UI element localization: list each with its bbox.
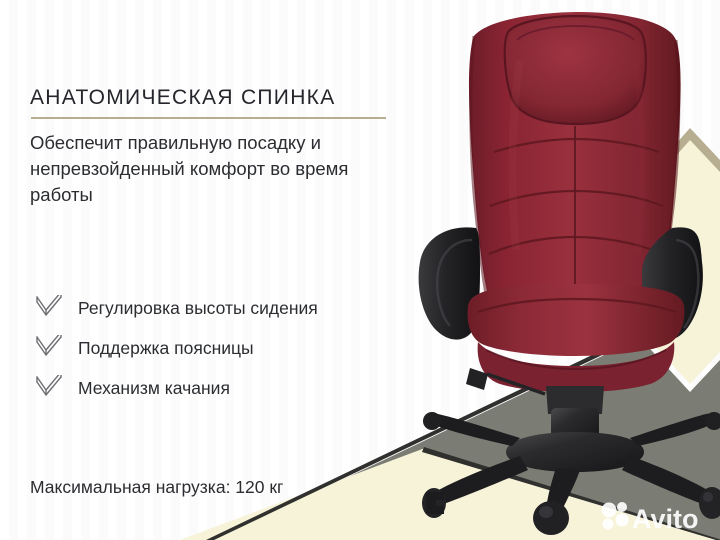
feature-list: Регулировка высоты сидения Поддержка поя… xyxy=(32,288,422,408)
caster-front-center-hl xyxy=(539,506,553,518)
list-item: Поддержка поясницы xyxy=(32,328,422,368)
caster-left-back xyxy=(423,412,441,430)
title-underline xyxy=(31,117,386,119)
page-title: АНАТОМИЧЕСКАЯ СПИНКА xyxy=(30,86,336,110)
caster-front-center xyxy=(533,501,569,535)
max-load-text: Максимальная нагрузка: 120 кг xyxy=(30,477,283,498)
avito-watermark: Avito xyxy=(600,500,712,534)
list-item-label: Механизм качания xyxy=(78,378,230,399)
avito-logo-text: Avito xyxy=(632,504,699,534)
chair-leg-left-back xyxy=(428,414,520,446)
promo-card: АНАТОМИЧЕСКАЯ СПИНКА Обеспечит правильну… xyxy=(0,0,720,540)
chair-seat-cushion xyxy=(468,284,685,356)
list-item-label: Регулировка высоты сидения xyxy=(78,298,318,319)
list-item: Механизм качания xyxy=(32,368,422,408)
check-icon xyxy=(32,293,66,323)
check-icon xyxy=(32,373,66,403)
chair-headrest xyxy=(505,16,646,124)
subtitle-text: Обеспечит правильную посадку и непревзой… xyxy=(30,130,410,208)
list-item: Регулировка высоты сидения xyxy=(32,288,422,328)
check-icon xyxy=(32,333,66,363)
chair-leg-right-back xyxy=(630,414,716,446)
list-item-label: Поддержка поясницы xyxy=(78,338,254,359)
text-panel: АНАТОМИЧЕСКАЯ СПИНКА Обеспечит правильну… xyxy=(30,0,425,540)
avito-logo-dots xyxy=(602,502,629,530)
chair-base-hub xyxy=(506,432,644,472)
